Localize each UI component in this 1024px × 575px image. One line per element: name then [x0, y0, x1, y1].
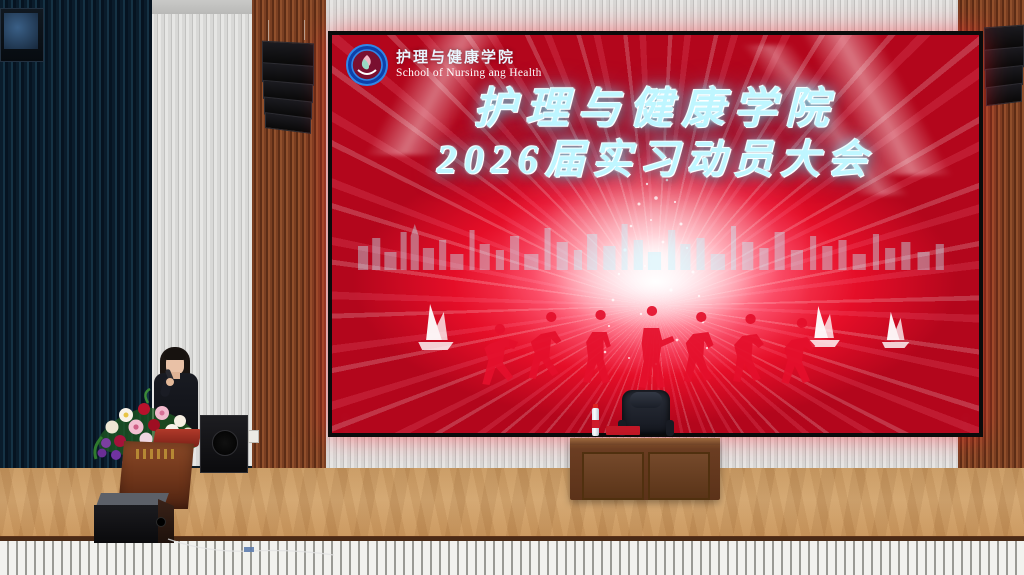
city-skyline-icon: [351, 210, 959, 270]
desk-panel-left: [582, 452, 644, 500]
podium-emblem: [136, 449, 176, 459]
desk-nameplate: [606, 426, 640, 435]
desk-top-edge: [570, 438, 720, 445]
wall-monitor-screen: [4, 13, 38, 49]
monitor-front-face: [94, 505, 162, 543]
line-array-speaker-icon: [986, 83, 1022, 106]
led-display-screen: 护理与健康学院 School of Nursing ang Health 护理与…: [328, 31, 983, 437]
presenter-hand: [166, 378, 174, 386]
chair-headrest: [630, 392, 662, 408]
led-screen-content: 护理与健康学院 School of Nursing ang Health 护理与…: [332, 35, 979, 433]
water-bottle: [592, 404, 599, 436]
desk-group: [570, 392, 720, 500]
school-emblem-icon: [346, 44, 388, 86]
headline-line-1: 护理与健康学院: [332, 87, 979, 133]
chair-armrest-right: [666, 420, 674, 436]
conference-desk: [570, 438, 720, 500]
bottle-label: [592, 420, 599, 428]
presenter-hair-front: [164, 349, 186, 360]
headline-line-2: 2026届实习动员大会: [332, 138, 979, 182]
speaker-hanging-left: [260, 20, 316, 130]
school-name-en: School of Nursing ang Health: [396, 68, 542, 80]
speaker-wire: [304, 20, 305, 40]
school-name-cn: 护理与健康学院: [396, 50, 542, 65]
desk-panel-right: [648, 452, 710, 500]
speaker-woofer-icon: [212, 430, 238, 456]
speaker-hanging-right: [984, 26, 1024, 116]
school-logo: 护理与健康学院 School of Nursing ang Health: [346, 44, 542, 86]
audio-cable: [166, 535, 336, 559]
floor-speaker-right: [200, 415, 248, 473]
wall-outlet: [248, 430, 259, 443]
monitor-driver-icon: [156, 517, 166, 527]
wall-monitor-left: [0, 8, 44, 62]
event-headline: 护理与健康学院 2026届实习动员大会: [332, 87, 979, 182]
auditorium-scene: 护理与健康学院 School of Nursing ang Health 护理与…: [0, 0, 1024, 575]
school-logo-text: 护理与健康学院 School of Nursing ang Health: [396, 50, 542, 80]
